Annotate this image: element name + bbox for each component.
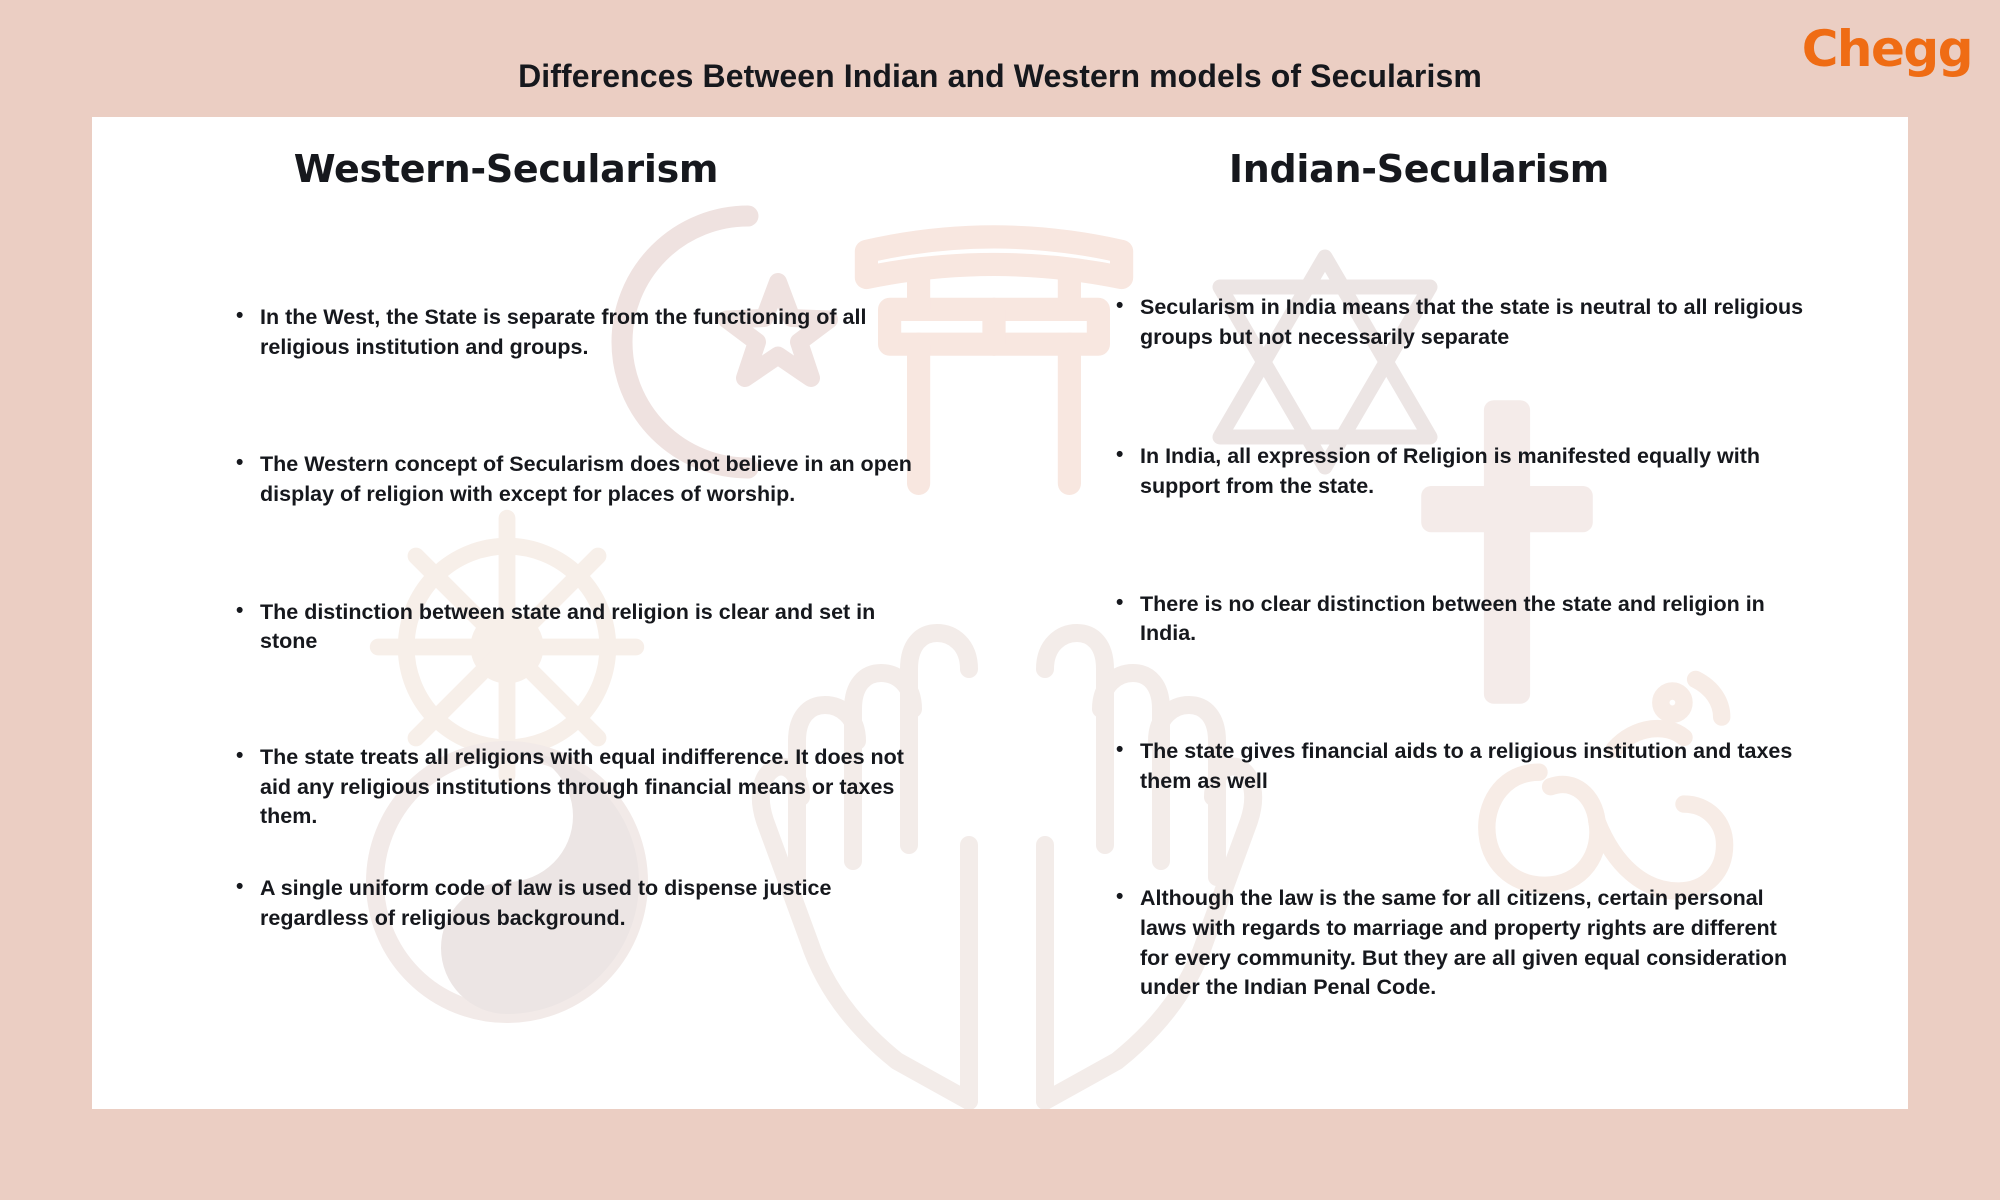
list-item: In India, all expression of Religion is … <box>1110 442 1810 501</box>
bullet-list-western: In the West, the State is separate from … <box>230 303 920 933</box>
list-item: The Western concept of Secularism does n… <box>230 450 920 509</box>
list-item: A single uniform code of law is used to … <box>230 874 920 933</box>
comparison-columns: Western-Secularism In the West, the Stat… <box>92 117 1908 1109</box>
list-item: Secularism in India means that the state… <box>1110 293 1810 352</box>
column-heading-indian: Indian-Secularism <box>1000 147 1908 191</box>
list-item: The state treats all religions with equa… <box>230 743 920 832</box>
list-item: In the West, the State is separate from … <box>230 303 920 362</box>
column-heading-western: Western-Secularism <box>92 147 1000 191</box>
page-header: Differences Between Indian and Western m… <box>0 0 2000 115</box>
column-western-secularism: Western-Secularism In the West, the Stat… <box>92 117 1000 1109</box>
column-indian-secularism: Indian-Secularism Secularism in India me… <box>1000 117 1908 1109</box>
content-card: Western-Secularism In the West, the Stat… <box>92 117 1908 1109</box>
chegg-logo: Chegg <box>1802 20 1972 78</box>
infographic-page: Differences Between Indian and Western m… <box>0 0 2000 1200</box>
list-item: The distinction between state and religi… <box>230 598 920 657</box>
list-item: Although the law is the same for all cit… <box>1110 884 1810 1003</box>
list-item: The state gives financial aids to a reli… <box>1110 737 1810 796</box>
bullet-list-indian: Secularism in India means that the state… <box>1110 293 1810 1003</box>
list-item: There is no clear distinction between th… <box>1110 590 1810 649</box>
page-title: Differences Between Indian and Western m… <box>0 58 2000 95</box>
